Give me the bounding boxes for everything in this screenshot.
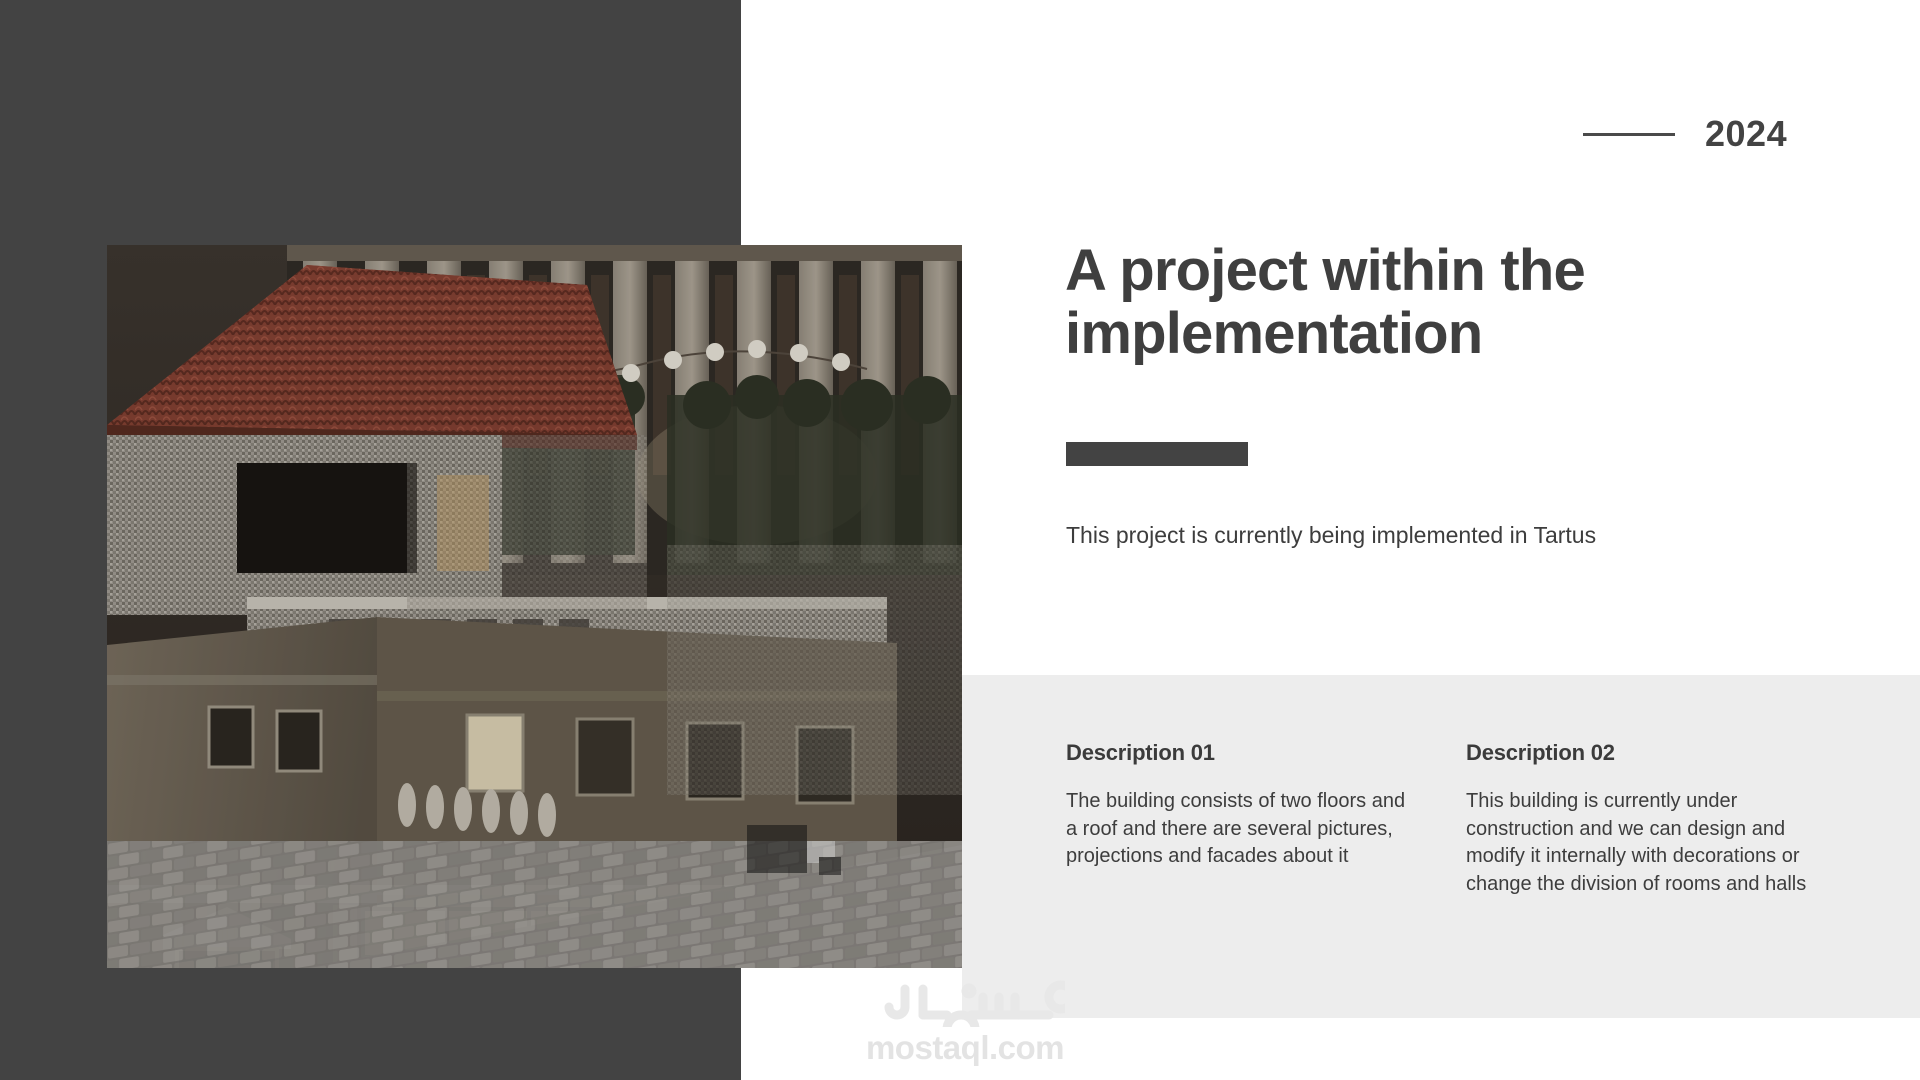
slide-subtitle: This project is currently being implemen… [1066,520,1856,551]
description-heading: Description 02 [1466,740,1811,766]
building-render-illustration [107,245,962,968]
year-rule-line [1583,133,1675,136]
description-body: This building is currently under constru… [1466,788,1811,898]
description-column-2: Description 02 This building is currentl… [1466,740,1811,898]
description-column-1: Description 01 The building consists of … [1066,740,1411,871]
year-label: 2024 [1705,116,1787,152]
description-heading: Description 01 [1066,740,1411,766]
year-row: 2024 [1583,108,1820,160]
hero-render-image [107,245,962,968]
title-accent-bar [1066,442,1248,466]
mostaql-domain-text: mostaql.com [845,1031,1085,1064]
description-body: The building consists of two floors and … [1066,788,1411,871]
presentation-slide: 2024 A project within the implementation… [0,0,1920,1080]
slide-title: A project within the implementation [1065,240,1825,365]
